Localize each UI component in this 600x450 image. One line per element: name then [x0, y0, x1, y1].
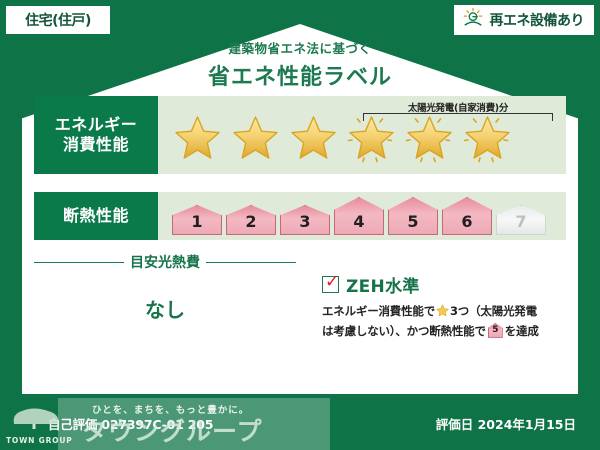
- energy-performance-label: 住宅(住戸) 再エネ設備あり 建築物省エネ法に基づく 省エネ性能ラベル: [0, 0, 600, 450]
- insulation-grade-badge: 5: [388, 197, 438, 235]
- grade-badge-value: 5: [407, 212, 418, 231]
- zeh-desc-star-count: 3つ（太陽光発電: [450, 304, 537, 318]
- grade-badge-value: 2: [245, 212, 256, 231]
- label-title: 省エネ性能ラベル: [0, 59, 600, 91]
- heading-rule-right: [206, 262, 296, 263]
- insulation-grade-badge: 6: [442, 197, 492, 235]
- title-block: 建築物省エネ法に基づく 省エネ性能ラベル: [0, 38, 600, 91]
- insulation-grade-badge: 7: [496, 205, 546, 235]
- insulation-grade-badge: 2: [226, 205, 276, 235]
- utility-cost-section: 目安光熱費 なし: [34, 252, 296, 323]
- grade-badge-value: 4: [353, 212, 364, 231]
- star-filled: [286, 110, 341, 165]
- star-solar: [402, 110, 457, 165]
- insulation-grade-badge: 3: [280, 205, 330, 235]
- utility-cost-title: 目安光熱費: [130, 252, 200, 272]
- check-icon: ✓: [325, 274, 339, 291]
- evaluation-date-text: 評価日 2024年1月15日: [436, 414, 576, 433]
- insulation-row-body: 1 2 3 4 5 6 7: [158, 192, 566, 240]
- inline-star-icon: [436, 304, 449, 323]
- footer: 自己評価 027397C-01 205 評価日 2024年1月15日: [0, 394, 600, 450]
- star-solar: [460, 110, 515, 165]
- insulation-grade-scale: 1 2 3 4 5 6 7: [158, 197, 546, 235]
- zeh-desc-part3: を達成: [505, 324, 539, 338]
- renewable-equipment-badge: 再エネ設備あり: [454, 5, 595, 35]
- zeh-desc-part2: は考慮しない）、かつ断熱性能で: [322, 324, 486, 338]
- star-filled: [228, 110, 283, 165]
- zeh-title: ZEH水準: [346, 272, 420, 297]
- energy-star-rating: [158, 110, 515, 165]
- zeh-checkbox: ✓: [322, 276, 339, 293]
- grade-badge-value: 7: [515, 212, 526, 231]
- energy-row-label: エネルギー 消費性能: [34, 96, 158, 174]
- energy-row-body: 太陽光発電(自家消費)分: [158, 96, 566, 174]
- label-subtitle: 建築物省エネ法に基づく: [0, 38, 600, 57]
- utility-cost-heading: 目安光熱費: [34, 252, 296, 272]
- building-type-text: 住宅(住戸): [25, 10, 91, 30]
- insulation-grade-badge: 4: [334, 197, 384, 235]
- zeh-desc-part1: エネルギー消費性能で: [322, 304, 435, 318]
- zeh-heading: ✓ ZEH水準: [322, 272, 566, 297]
- building-type-tag: 住宅(住戸): [6, 6, 110, 34]
- insulation-grade-badge: 1: [172, 205, 222, 235]
- zeh-description: エネルギー消費性能で3つ（太陽光発電 は考慮しない）、かつ断熱性能で5を達成: [322, 303, 566, 341]
- insulation-label-text: 断熱性能: [63, 206, 129, 226]
- insulation-performance-row: 断熱性能 1 2 3 4 5 6 7: [34, 192, 566, 240]
- insulation-row-label: 断熱性能: [34, 192, 158, 240]
- inline-grade-badge: 5: [488, 323, 503, 338]
- energy-label-line1: エネルギー: [55, 115, 138, 135]
- zeh-section: ✓ ZEH水準 エネルギー消費性能で3つ（太陽光発電 は考慮しない）、かつ断熱性…: [322, 272, 566, 341]
- star-solar: [344, 110, 399, 165]
- grade-badge-value: 3: [299, 212, 310, 231]
- energy-performance-row: エネルギー 消費性能 太陽光発電(自家消費)分: [34, 96, 566, 174]
- inline-badge-value: 5: [488, 323, 503, 338]
- star-filled: [170, 110, 225, 165]
- utility-cost-value: なし: [34, 294, 296, 323]
- renewable-badge-label: 再エネ設備あり: [490, 10, 585, 30]
- heading-rule-left: [34, 262, 124, 263]
- evaluation-id-text: 自己評価 027397C-01 205: [48, 414, 213, 433]
- grade-badge-value: 6: [461, 212, 472, 231]
- grade-badge-value: 1: [191, 212, 202, 231]
- solar-sun-icon: [462, 7, 484, 33]
- energy-label-line2: 消費性能: [63, 135, 129, 155]
